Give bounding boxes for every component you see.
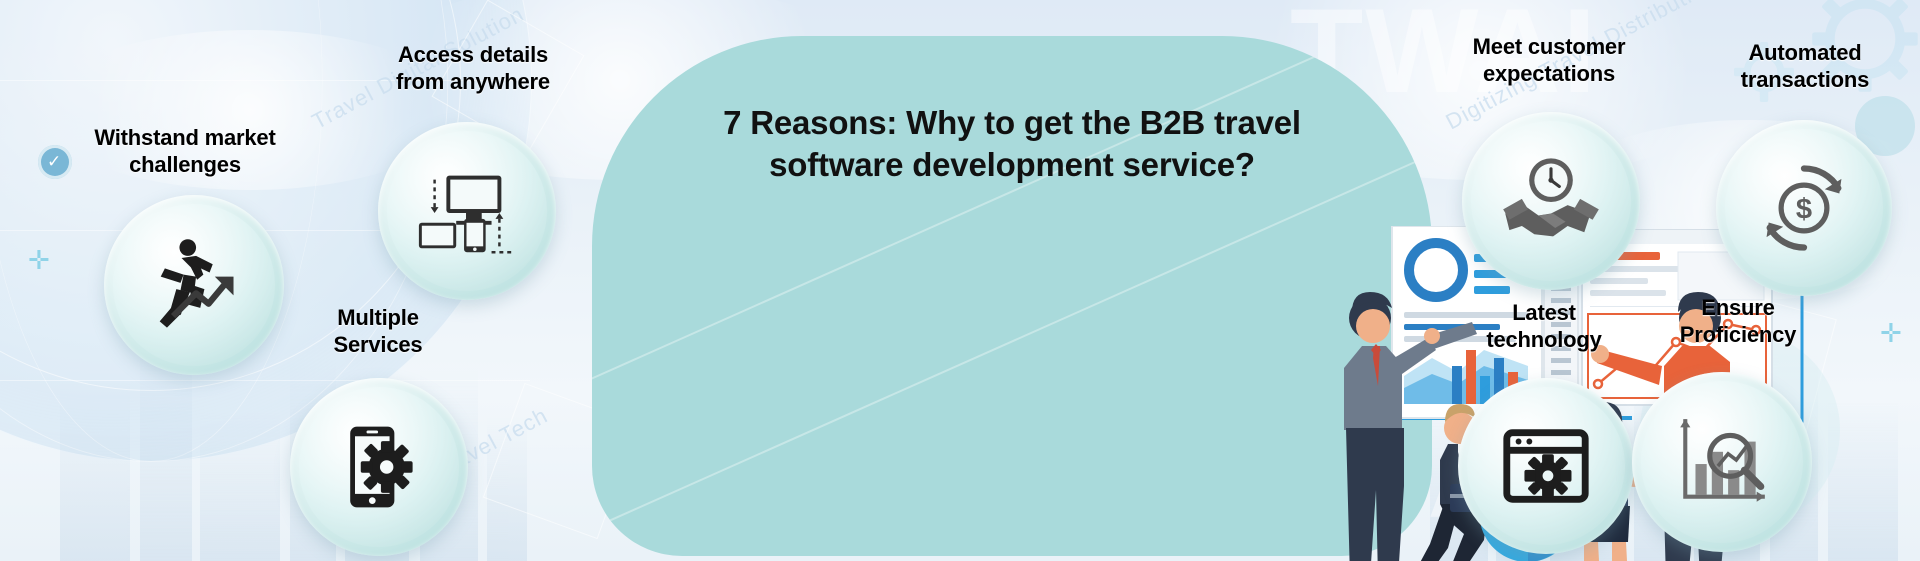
label-line-2: expectations [1483, 61, 1615, 86]
label-automated-transactions: Automated transactions [1690, 40, 1920, 94]
page-title-line-1: 7 Reasons: Why to get the B2B travel [723, 104, 1301, 141]
page-title-line-2: software development service? [592, 144, 1432, 186]
badge-ensure-proficiency[interactable] [1632, 372, 1812, 552]
label-line-1: Multiple [337, 305, 419, 330]
hero-panel: 7 Reasons: Why to get the B2B travel sof… [592, 36, 1432, 556]
running-man-growth-arrow-icon [142, 233, 246, 337]
badge-multiple-services[interactable] [290, 378, 468, 556]
page-title: 7 Reasons: Why to get the B2B travel sof… [592, 102, 1432, 186]
label-withstand-market-challenges: Withstand market challenges [60, 125, 310, 179]
label-line-2: Services [334, 332, 423, 357]
label-line-2: from anywhere [396, 69, 550, 94]
badge-withstand-market-challenges[interactable] [104, 195, 284, 375]
multi-device-sync-icon [413, 159, 521, 263]
mobile-gear-icon [331, 419, 427, 515]
badge-automated-transactions[interactable]: $ [1716, 120, 1892, 296]
badge-meet-customer-expectations[interactable] [1462, 112, 1640, 290]
label-access-details-from-anywhere: Access details from anywhere [348, 42, 598, 96]
label-multiple-services: Multiple Services [278, 305, 478, 359]
badge-access-details-from-anywhere[interactable] [378, 122, 556, 300]
label-line-1: Access details [398, 42, 548, 67]
infographic-banner: TWAI TWAI Digitizing Travel Distribution… [0, 0, 1920, 561]
browser-window-gear-icon [1497, 417, 1595, 515]
globe-parallel-4 [0, 380, 530, 381]
label-line-2: transactions [1741, 67, 1869, 92]
label-line-1: Ensure [1701, 295, 1774, 320]
handshake-clock-icon [1499, 149, 1603, 253]
label-line-2: Proficiency [1680, 322, 1796, 347]
label-line-1: Latest [1512, 300, 1576, 325]
label-ensure-proficiency: Ensure Proficiency [1628, 295, 1848, 349]
label-line-1: Automated [1748, 40, 1861, 65]
label-latest-technology: Latest technology [1434, 300, 1654, 354]
label-line-2: challenges [129, 152, 241, 177]
label-line-1: Withstand market [94, 125, 275, 150]
plus-mark-1: ✛ [28, 245, 50, 276]
label-line-2: technology [1486, 327, 1601, 352]
circular-arrows-dollar-icon: $ [1752, 156, 1856, 260]
svg-text:$: $ [1796, 193, 1812, 225]
label-meet-customer-expectations: Meet customer expectations [1424, 34, 1674, 88]
bar-chart-magnifier-icon [1671, 411, 1773, 513]
badge-latest-technology[interactable] [1458, 378, 1634, 554]
label-line-1: Meet customer [1473, 34, 1626, 59]
